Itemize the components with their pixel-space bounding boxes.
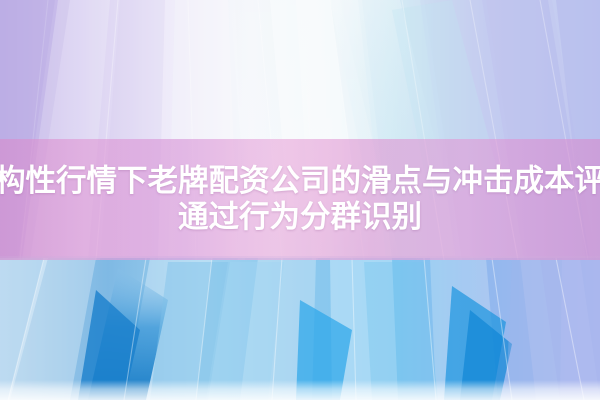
title-line-1: 结构性行情下老牌配资公司的滑点与冲击成本评估 bbox=[0, 164, 600, 200]
title-line-2: 通过行为分群识别 bbox=[178, 200, 422, 236]
title-band: 结构性行情下老牌配资公司的滑点与冲击成本评估 通过行为分群识别 bbox=[0, 139, 600, 260]
banner: 结构性行情下老牌配资公司的滑点与冲击成本评估 通过行为分群识别 bbox=[0, 0, 600, 400]
